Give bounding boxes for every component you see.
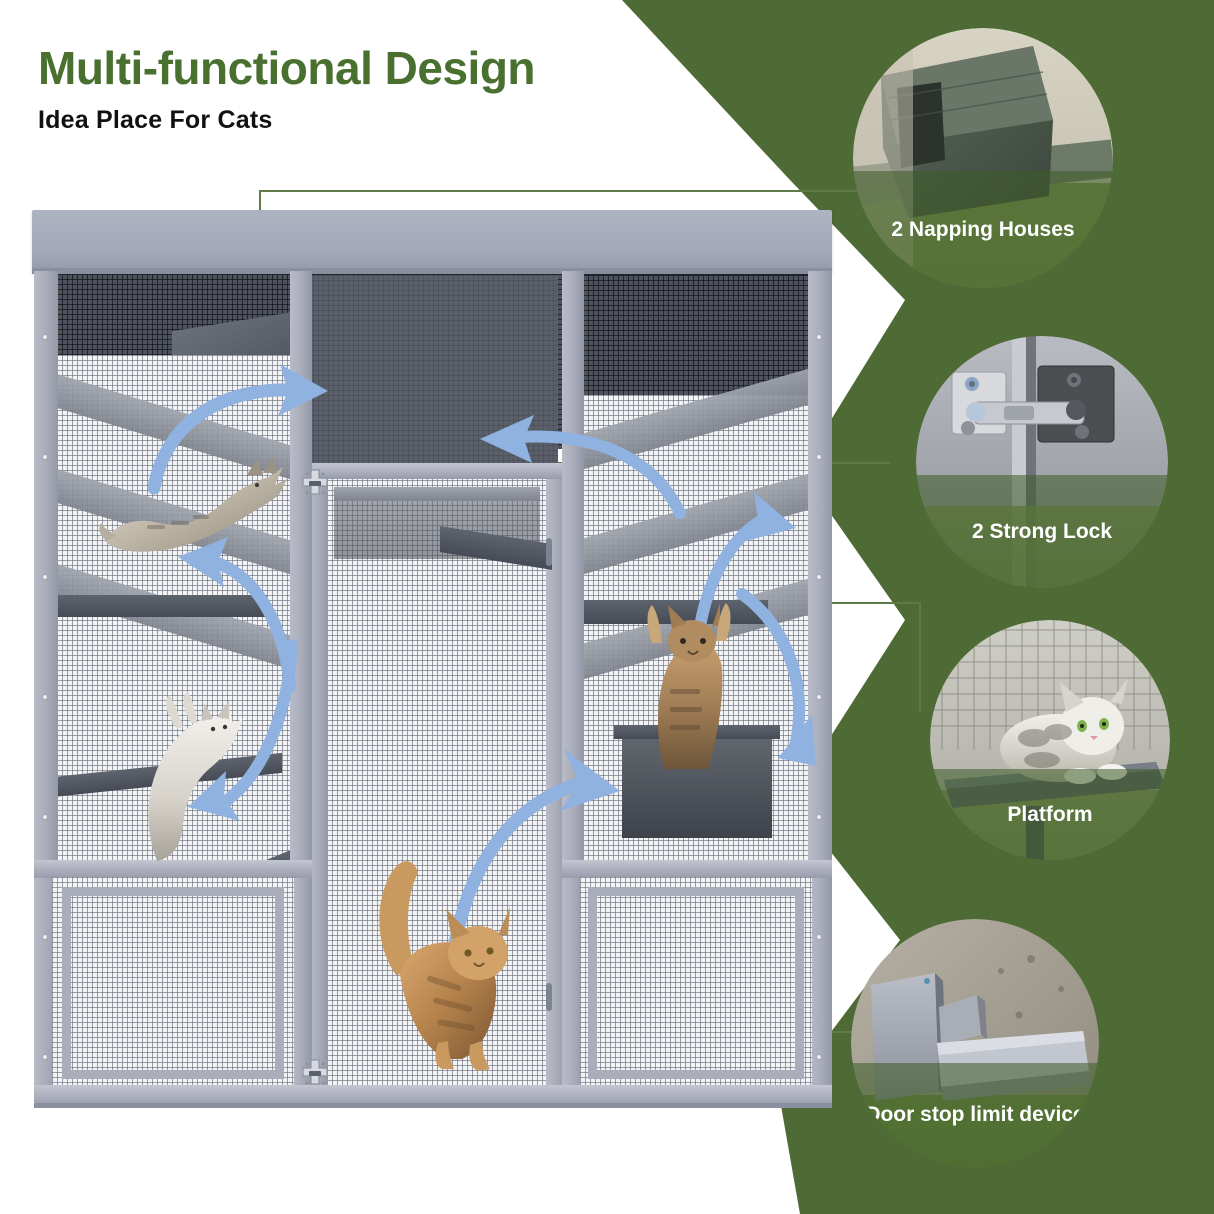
lower-left-inner-frame: [62, 887, 284, 1079]
cat-leaping: [97, 445, 297, 570]
screw-icon: [817, 935, 821, 939]
screw-icon: [817, 815, 821, 819]
callout-strong-lock[interactable]: 2 Strong Lock: [916, 336, 1168, 588]
infographic-canvas: Multi-functional Design Idea Place For C…: [0, 0, 1214, 1214]
door-latch-lower-icon[interactable]: [298, 1057, 332, 1091]
cat-standing: [630, 597, 740, 772]
callout-door-stop[interactable]: Door stop limit device: [851, 919, 1099, 1167]
callout-platform[interactable]: Platform: [930, 620, 1170, 860]
screw-icon: [43, 695, 47, 699]
callout-label-napping-houses: 2 Napping Houses: [853, 171, 1113, 288]
callout-label-door-stop: Door stop limit device: [851, 1063, 1099, 1167]
cat-walking: [342, 855, 527, 1075]
screw-icon: [817, 1055, 821, 1059]
bottom-base-shadow: [34, 1103, 832, 1108]
callout-napping-houses[interactable]: 2 Napping Houses: [853, 28, 1113, 288]
callout-label-strong-lock: 2 Strong Lock: [916, 475, 1168, 588]
callout-label-platform: Platform: [930, 769, 1170, 860]
screw-icon: [43, 1055, 47, 1059]
screw-icon: [43, 455, 47, 459]
page-subtitle: Idea Place For Cats: [38, 106, 272, 135]
door-handle-upper[interactable]: [546, 538, 552, 566]
screw-icon: [817, 335, 821, 339]
screw-icon: [817, 455, 821, 459]
leader-line-napping-horizontal: [259, 190, 871, 192]
screw-icon: [43, 575, 47, 579]
leader-line-platform-vertical: [919, 602, 921, 712]
screw-icon: [43, 935, 47, 939]
screw-icon: [43, 335, 47, 339]
page-title: Multi-functional Design: [38, 44, 535, 92]
motion-arrow-up-left-4: [472, 415, 692, 525]
cat-climbing: [117, 675, 252, 865]
product-illustration-catio: [22, 205, 842, 1105]
roof-panel: [32, 210, 832, 272]
screw-icon: [817, 575, 821, 579]
screw-icon: [43, 815, 47, 819]
